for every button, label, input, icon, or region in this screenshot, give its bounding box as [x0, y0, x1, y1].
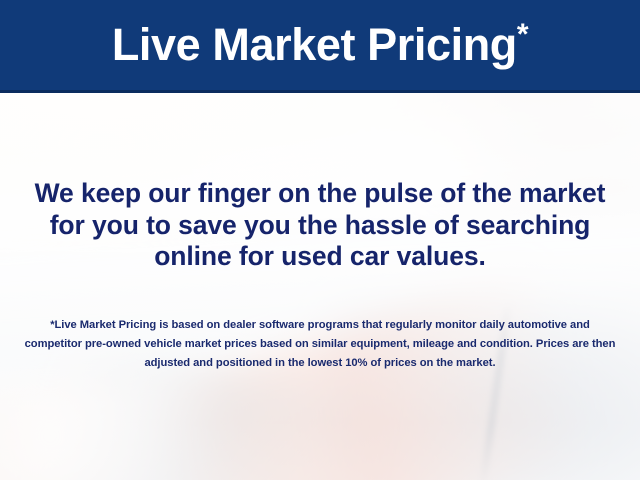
page-title-text: Live Market Pricing — [112, 19, 517, 70]
title-bar: Live Market Pricing* — [0, 0, 640, 93]
title-asterisk: * — [517, 18, 528, 51]
headline-text: We keep our finger on the pulse of the m… — [26, 178, 614, 273]
live-market-pricing-banner: Live Market Pricing* We keep our finger … — [0, 0, 640, 480]
page-title: Live Market Pricing* — [112, 22, 528, 67]
disclaimer-text: *Live Market Pricing is based on dealer … — [24, 316, 616, 372]
